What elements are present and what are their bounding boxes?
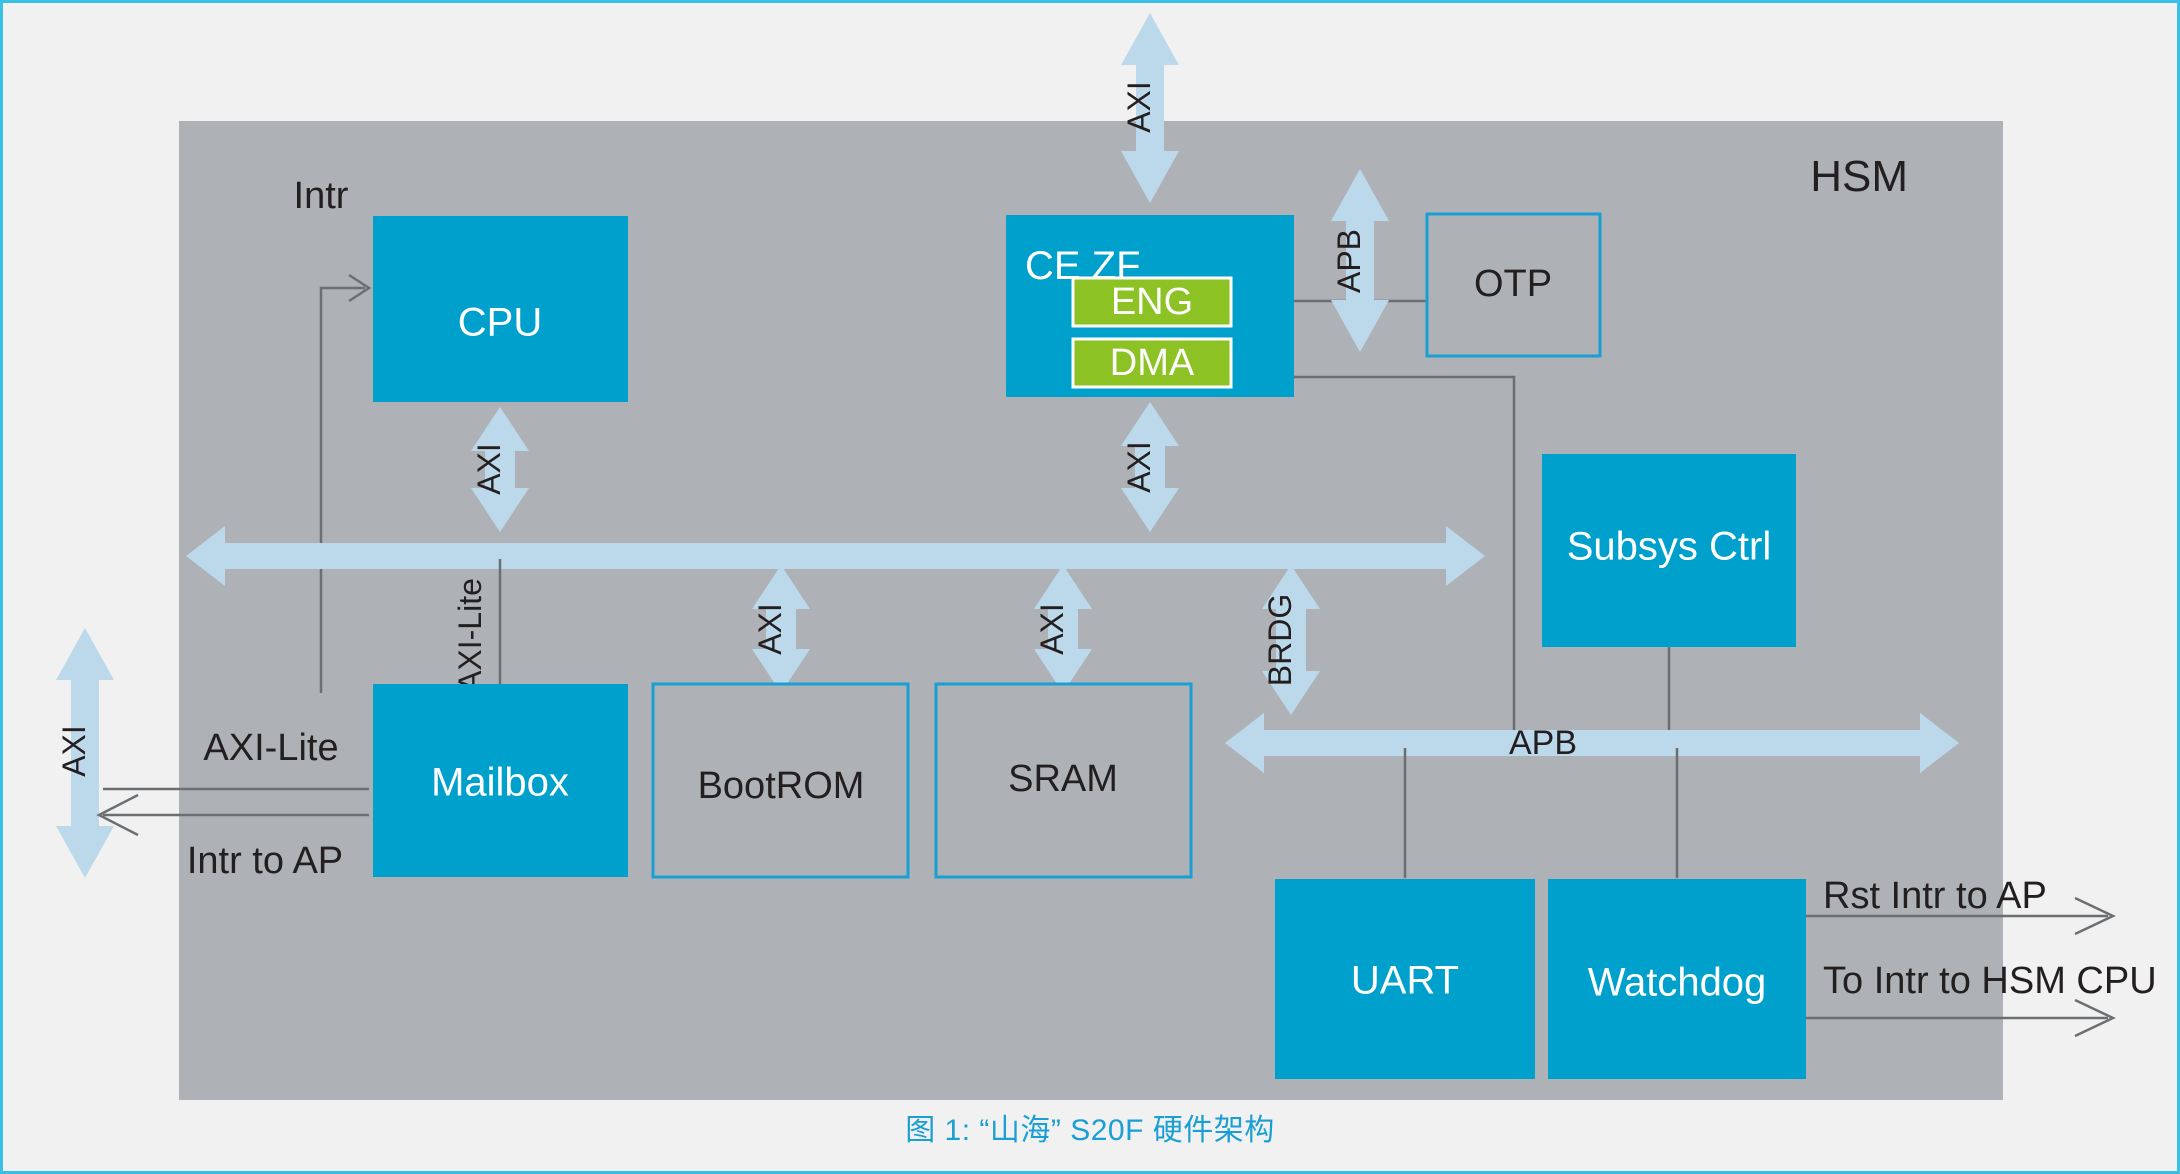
block-sram-label: SRAM <box>1008 758 1118 800</box>
axi-lite-vertical-label: AXI-Lite <box>452 578 488 692</box>
block-otp-label: OTP <box>1474 263 1552 305</box>
axi-top-external-label: AXI <box>1121 81 1157 133</box>
brdg-label: BRDG <box>1262 594 1298 686</box>
block-uart-label: UART <box>1351 959 1459 1003</box>
hsm-label: HSM <box>1810 152 1908 201</box>
intr-to-ap-label: Intr to AP <box>187 840 343 882</box>
figure-canvas: HSM AXI CPU Intr CE ZF ENG DMA APB <box>0 0 2180 1174</box>
block-watchdog-label: Watchdog <box>1588 961 1767 1005</box>
rst-intr-to-ap-label: Rst Intr to AP <box>1823 875 2047 917</box>
axi-bootrom-label: AXI <box>752 603 788 655</box>
to-intr-to-hsm-cpu-label: To Intr to HSM CPU <box>1823 960 2157 1002</box>
intr-label: Intr <box>294 175 349 217</box>
axi-left-external-label: AXI <box>56 725 92 777</box>
block-dma-label: DMA <box>1110 342 1195 384</box>
block-bootrom-label: BootROM <box>698 765 865 807</box>
apb-otp-label: APB <box>1331 229 1367 293</box>
block-mailbox-label: Mailbox <box>431 761 569 805</box>
block-subsys-ctrl-label: Subsys Ctrl <box>1567 525 1772 569</box>
axi-sram-label: AXI <box>1034 603 1070 655</box>
axi-cpu-label: AXI <box>471 443 507 495</box>
block-eng-label: ENG <box>1111 281 1193 323</box>
axi-left-external-arrow: AXI <box>56 628 114 878</box>
block-cpu-label: CPU <box>458 301 542 345</box>
hardware-architecture-diagram: HSM AXI CPU Intr CE ZF ENG DMA APB <box>3 3 2180 1174</box>
apb-bus-label: APB <box>1509 724 1577 762</box>
axi-cezf-label: AXI <box>1121 441 1157 493</box>
figure-caption: 图 1: “山海” S20F 硬件架构 <box>3 1105 2177 1149</box>
axi-lite-horizontal-label: AXI-Lite <box>203 727 338 769</box>
